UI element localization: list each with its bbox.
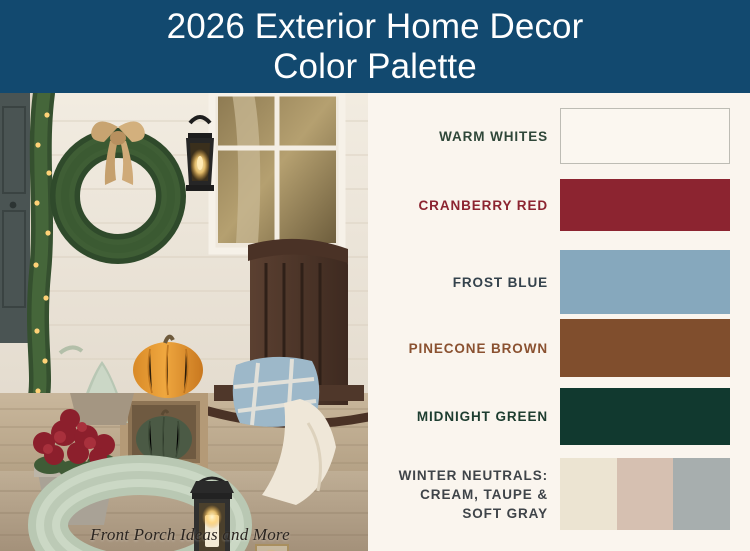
swatch-segment-soft-gray (673, 458, 730, 530)
swatch-label-midnight-green: Midnight Green (368, 407, 560, 426)
header-banner: 2026 Exterior Home Decor Color Palette (0, 0, 750, 93)
color-swatch-frost-blue (560, 250, 730, 314)
palette-row-warm-whites: Warm Whites (368, 101, 750, 171)
palette-panel: Warm Whites Cranberry Red Frost Blue Pin… (368, 93, 750, 551)
swatch-segment-midnight-green (560, 388, 730, 445)
swatch-segment-frost-blue (560, 250, 730, 314)
swatch-label-winter-neutrals: Winter Neutrals: Cream, Taupe & Soft Gra… (368, 466, 560, 523)
swatch-label-winter-neutrals-line-3: Soft Gray (368, 504, 548, 523)
palette-row-pinecone-brown: Pinecone Brown (368, 319, 750, 377)
color-palette-infographic: 2026 Exterior Home Decor Color Palette (0, 0, 750, 551)
photo-watermark: Front Porch Ideas and More (0, 525, 368, 545)
palette-row-cranberry-red: Cranberry Red (368, 179, 750, 231)
swatch-label-warm-whites: Warm Whites (368, 127, 560, 146)
color-swatch-pinecone-brown (560, 319, 730, 377)
swatch-label-frost-blue: Frost Blue (368, 273, 560, 292)
swatch-label-pinecone-brown: Pinecone Brown (368, 339, 560, 358)
palette-row-midnight-green: Midnight Green (368, 387, 750, 445)
color-swatch-warm-whites (560, 108, 730, 164)
swatch-segment-pinecone-brown (560, 319, 730, 377)
swatch-label-winter-neutrals-line-2: Cream, Taupe & (368, 485, 548, 504)
color-swatch-cranberry-red (560, 179, 730, 231)
swatch-segment-taupe (617, 458, 674, 530)
palette-row-frost-blue: Frost Blue (368, 249, 750, 315)
color-swatch-midnight-green (560, 388, 730, 445)
page-title-line-2: Color Palette (273, 47, 477, 87)
color-swatch-winter-neutrals (560, 458, 730, 530)
swatch-segment-warm-white (561, 109, 729, 163)
swatch-segment-cranberry-red (560, 179, 730, 231)
porch-photo-illustration (0, 93, 368, 551)
swatch-segment-cream (560, 458, 617, 530)
porch-photo: Front Porch Ideas and More (0, 93, 368, 551)
page-title-line-1: 2026 Exterior Home Decor (167, 7, 584, 47)
palette-row-winter-neutrals: Winter Neutrals: Cream, Taupe & Soft Gra… (368, 457, 750, 531)
swatch-label-winter-neutrals-line-1: Winter Neutrals: (368, 466, 548, 485)
swatch-label-cranberry-red: Cranberry Red (368, 196, 560, 215)
